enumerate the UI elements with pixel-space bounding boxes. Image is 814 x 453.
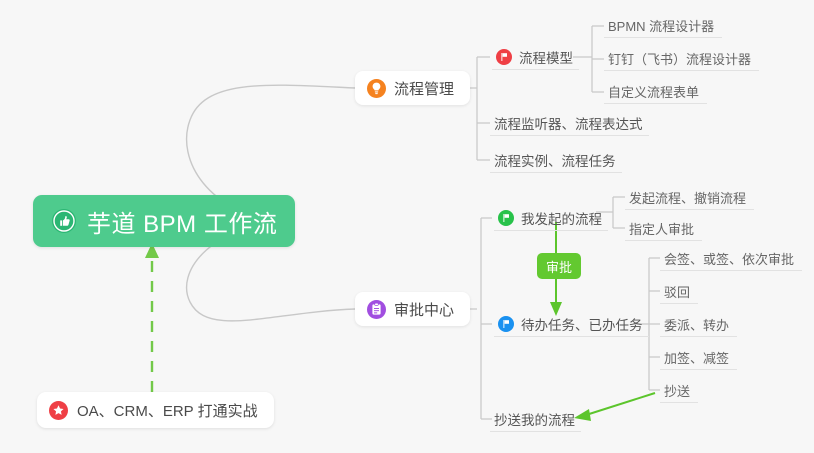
clipboard-icon xyxy=(367,300,386,319)
lightbulb-icon xyxy=(367,79,386,98)
branch-approval-center[interactable]: 审批中心 xyxy=(355,292,470,326)
leaf-label: 抄送 xyxy=(664,381,690,400)
node-label: 我发起的流程 xyxy=(521,208,602,228)
leaf-cc[interactable]: 抄送 xyxy=(660,378,698,403)
node-my-started-process[interactable]: 我发起的流程 xyxy=(494,205,608,231)
mindmap-canvas: 芋道 BPM 工作流 流程管理 流程模型 BPMN 流程设计器 钉钉（飞书）流程 xyxy=(0,0,814,453)
star-icon xyxy=(49,401,68,420)
thumbs-up-icon xyxy=(51,208,77,234)
node-label: 流程实例、流程任务 xyxy=(494,150,616,170)
integration-dashed-arrow xyxy=(145,243,159,392)
leaf-add-remove-sign[interactable]: 加签、减签 xyxy=(660,345,737,370)
leaf-label: 指定人审批 xyxy=(629,219,694,238)
leaf-label: 发起流程、撤销流程 xyxy=(629,188,746,207)
leaf-bpmn-designer[interactable]: BPMN 流程设计器 xyxy=(604,13,722,38)
node-todo-done-tasks[interactable]: 待办任务、已办任务 xyxy=(494,311,649,337)
node-cc-to-me-process[interactable]: 抄送我的流程 xyxy=(490,406,581,432)
annotation-approval-tag: 审批 xyxy=(537,253,581,279)
leaf-label: 驳回 xyxy=(664,282,690,301)
leaf-delegate-transfer[interactable]: 委派、转办 xyxy=(660,312,737,337)
leaf-label: 委派、转办 xyxy=(664,315,729,334)
node-process-instance[interactable]: 流程实例、流程任务 xyxy=(490,147,622,173)
root-node[interactable]: 芋道 BPM 工作流 xyxy=(33,195,295,247)
leaf-label: 自定义流程表单 xyxy=(608,82,699,101)
leaf-label: 会签、或签、依次审批 xyxy=(664,249,794,268)
leaf-parallel-approval[interactable]: 会签、或签、依次审批 xyxy=(660,246,802,271)
node-label: 抄送我的流程 xyxy=(494,409,575,429)
branch-process-management[interactable]: 流程管理 xyxy=(355,71,470,105)
cc-flow-arrow xyxy=(574,393,655,421)
leaf-custom-form[interactable]: 自定义流程表单 xyxy=(604,79,707,104)
node-label: 流程监听器、流程表达式 xyxy=(494,113,643,133)
callout-label: OA、CRM、ERP 打通实战 xyxy=(77,400,258,421)
leaf-assigned-approval[interactable]: 指定人审批 xyxy=(625,216,702,241)
branch-label: 流程管理 xyxy=(394,78,454,99)
annotation-label: 审批 xyxy=(546,257,572,276)
flag-icon xyxy=(498,210,514,226)
node-process-listener[interactable]: 流程监听器、流程表达式 xyxy=(490,110,649,136)
flag-icon xyxy=(496,49,512,65)
flag-icon xyxy=(498,316,514,332)
leaf-dingtalk-designer[interactable]: 钉钉（飞书）流程设计器 xyxy=(604,46,759,71)
leaf-label: 加签、减签 xyxy=(664,348,729,367)
leaf-reject[interactable]: 驳回 xyxy=(660,279,698,304)
node-process-model[interactable]: 流程模型 xyxy=(492,44,579,70)
leaf-label: BPMN 流程设计器 xyxy=(608,16,714,35)
branch-label: 审批中心 xyxy=(394,299,454,320)
callout-integration-practice[interactable]: OA、CRM、ERP 打通实战 xyxy=(37,392,274,428)
node-label: 流程模型 xyxy=(519,47,573,67)
node-label: 待办任务、已办任务 xyxy=(521,314,643,334)
leaf-start-cancel-process[interactable]: 发起流程、撤销流程 xyxy=(625,185,754,210)
root-label: 芋道 BPM 工作流 xyxy=(87,204,277,239)
leaf-label: 钉钉（飞书）流程设计器 xyxy=(608,49,751,68)
